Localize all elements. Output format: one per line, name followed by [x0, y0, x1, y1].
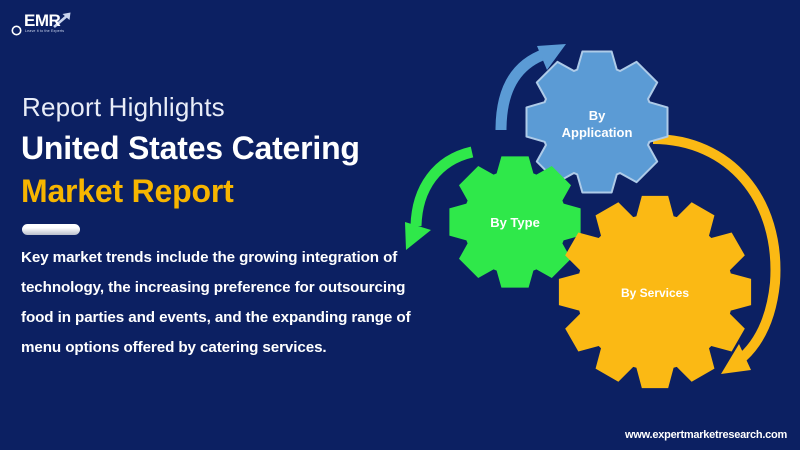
- footer-website-url[interactable]: www.expertmarketresearch.com: [625, 429, 787, 441]
- page-title-line-2: Market Report: [21, 173, 234, 210]
- gear-label-by-services: By Services: [621, 286, 689, 300]
- logo-circle-icon: [12, 26, 20, 34]
- gear-segmentation-diagram: By Application By Type By Services: [395, 30, 800, 420]
- report-highlights-banner: EMR Leave it to the Experts Report Highl…: [0, 0, 800, 450]
- body-paragraph: Key market trends include the growing in…: [21, 243, 441, 363]
- gear-label-text: Application: [562, 125, 633, 140]
- title-divider-pill: [22, 224, 80, 235]
- gear-label-text: By: [589, 108, 606, 123]
- gear-label-text: By Type: [490, 215, 540, 230]
- logo-wordmark: EMR: [24, 12, 60, 29]
- page-title-line-1: United States Catering: [21, 130, 360, 167]
- eyebrow-text: Report Highlights: [22, 92, 225, 123]
- logo-tagline: Leave it to the Experts: [25, 29, 64, 33]
- emr-logo[interactable]: EMR Leave it to the Experts: [10, 8, 80, 40]
- gear-label-by-type: By Type: [490, 215, 540, 230]
- gear-label-text: By Services: [621, 286, 689, 300]
